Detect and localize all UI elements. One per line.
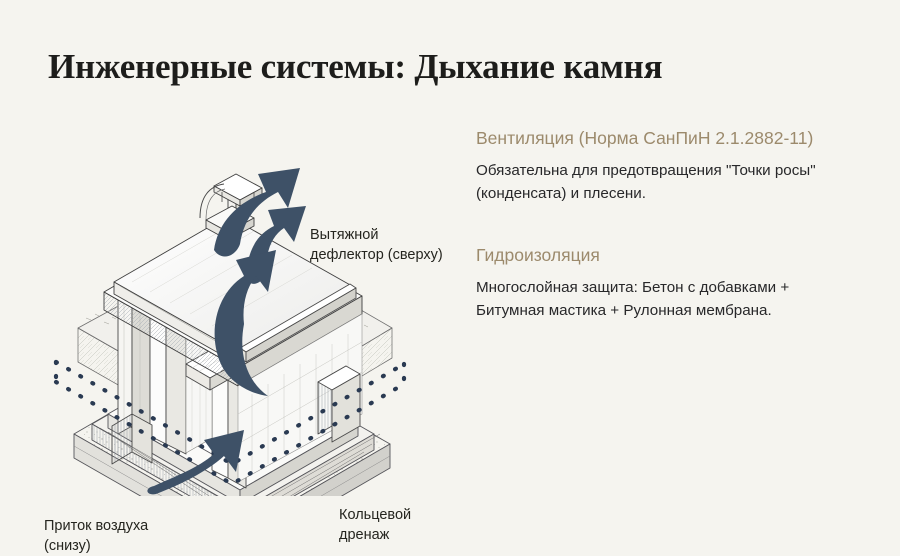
page-title: Инженерные системы: Дыхание камня bbox=[48, 46, 662, 88]
section-body-waterproofing: Многослойная защита: Бетон с добавками +… bbox=[476, 276, 868, 322]
diagram-svg bbox=[0, 96, 470, 496]
slide-canvas: Инженерные системы: Дыхание камня bbox=[0, 0, 900, 502]
section-heading-waterproofing: Гидроизоляция bbox=[476, 243, 868, 267]
section-body-ventilation: Обязательна для предотвращения "Точки ро… bbox=[476, 159, 868, 205]
section-heading-ventilation: Вентиляция (Норма СанПиН 2.1.2882-11) bbox=[476, 126, 868, 150]
label-exhaust-deflector: Вытяжной дефлектор (сверху) bbox=[310, 225, 443, 265]
label-ring-drain: Кольцевой дренаж bbox=[339, 505, 411, 545]
section-ventilation: Вентиляция (Норма СанПиН 2.1.2882-11) Об… bbox=[476, 126, 868, 205]
content-column: Вентиляция (Норма СанПиН 2.1.2882-11) Об… bbox=[476, 126, 868, 322]
label-air-intake: Приток воздуха (снизу) bbox=[44, 516, 148, 556]
crypt-ventilation-diagram: Вытяжной дефлектор (сверху) Приток возду… bbox=[0, 96, 470, 496]
section-waterproofing: Гидроизоляция Многослойная защита: Бетон… bbox=[476, 243, 868, 322]
